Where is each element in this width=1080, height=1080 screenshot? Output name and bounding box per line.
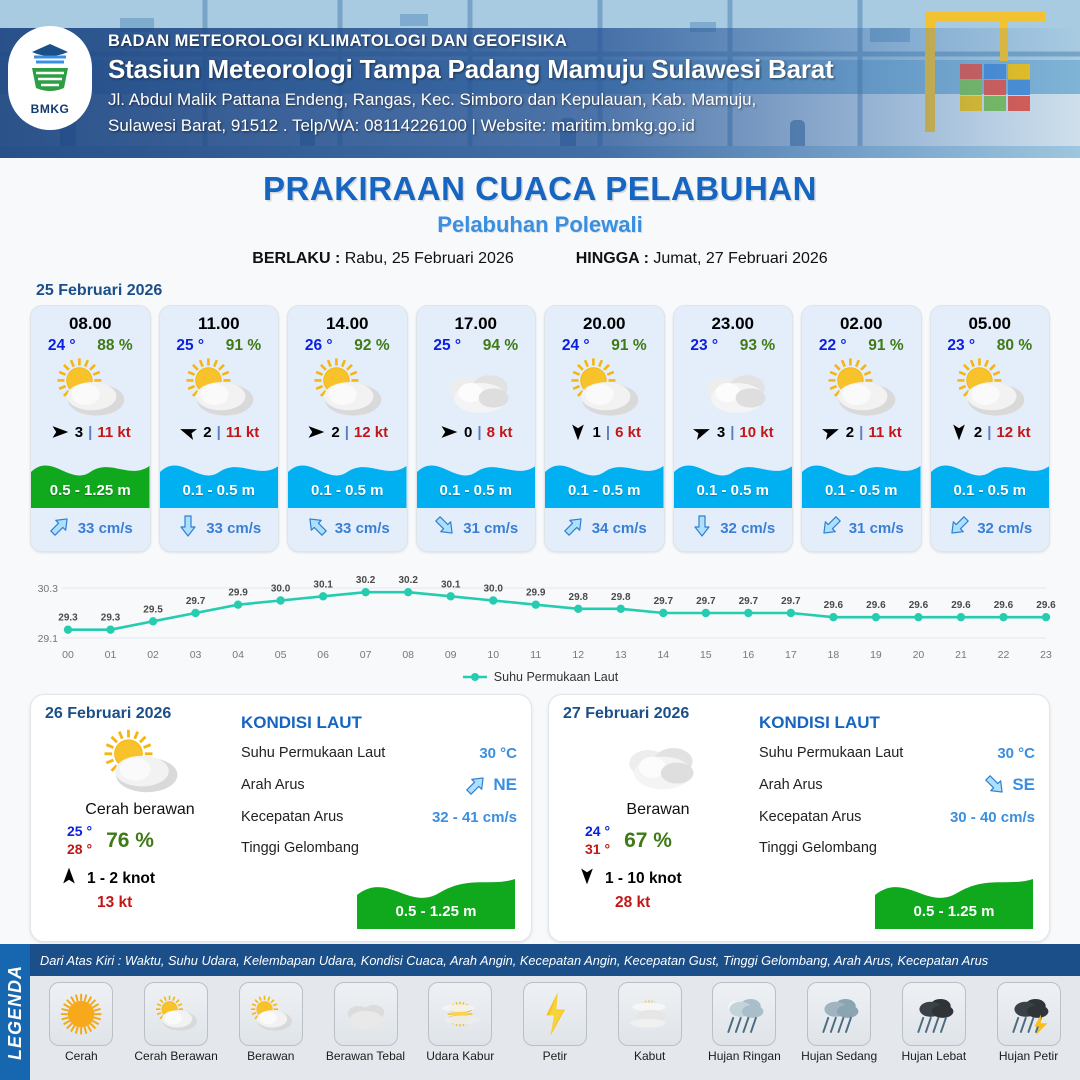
hourly-card: 20.00 24 ° 91 % 1 | 6 kt 0.1 - 0.5 m 3 [544, 305, 665, 552]
divider: | [859, 424, 863, 441]
row-label: Kecepatan Arus [759, 809, 861, 825]
partly-cloudy-icon [160, 357, 279, 419]
daily-wind-arrow-icon [577, 866, 597, 891]
thunderstorm-icon [997, 982, 1061, 1046]
cloud-sun-small-icon [239, 982, 303, 1046]
daily-wave-value: 0.5 - 1.25 m [357, 903, 515, 920]
wind-direction-arrow-icon [821, 422, 841, 442]
legend-item: Udara Kabur [414, 982, 506, 1063]
svg-text:29.6: 29.6 [994, 600, 1014, 611]
card-humidity: 93 % [740, 337, 775, 355]
card-humidity: 92 % [354, 337, 389, 355]
card-time: 20.00 [545, 306, 664, 336]
hourly-card: 11.00 25 ° 91 % 2 | 11 kt 0.1 - 0.5 m [159, 305, 280, 552]
wind-direction-arrow-icon [568, 422, 588, 442]
sea-row: Kecepatan Arus 30 - 40 cm/s [759, 806, 1035, 828]
svg-text:29.6: 29.6 [866, 600, 886, 611]
daily-wave-value: 0.5 - 1.25 m [875, 903, 1033, 920]
current-direction: SE [983, 773, 1035, 797]
row-label: Arah Arus [241, 777, 305, 793]
header-text-block: BADAN METEOROLOGI KLIMATOLOGI DAN GEOFIS… [108, 32, 834, 137]
svg-text:19: 19 [870, 649, 882, 661]
sea-row: Suhu Permukaan Laut 30 °C [241, 742, 517, 764]
current-direction-arrow-icon [819, 514, 843, 543]
chart-legend: Suhu Permukaan Laut [0, 670, 1080, 684]
daily-date: 27 Februari 2026 [563, 705, 753, 723]
wind-direction-value: 2 [846, 424, 854, 441]
svg-text:29.5: 29.5 [143, 604, 163, 615]
legend-item-label: Cerah Berawan [134, 1049, 217, 1063]
wind-direction-value: 3 [75, 424, 83, 441]
daily-temp-min: 24 ° [585, 823, 610, 841]
sst-chart: 30.329.129.30029.30129.50229.70329.90430… [20, 566, 1060, 666]
fog-icon [618, 982, 682, 1046]
wind-speed: 10 kt [739, 424, 773, 441]
heavy-rain-icon [902, 982, 966, 1046]
wind-speed: 11 kt [226, 424, 259, 441]
daily-temp-min: 25 ° [67, 823, 92, 841]
current-speed: 31 cm/s [849, 520, 904, 537]
sun-icon [49, 982, 113, 1046]
daily-gust: 13 kt [45, 894, 235, 912]
wave-height-value: 0.1 - 0.5 m [288, 482, 407, 499]
cloudy-icon [563, 725, 753, 799]
agency-name: BADAN METEOROLOGI KLIMATOLOGI DAN GEOFIS… [108, 32, 834, 51]
wind-speed: 12 kt [354, 424, 388, 441]
current-direction-arrow-icon [690, 514, 714, 543]
wave-height-band: 0.1 - 0.5 m [674, 446, 793, 508]
svg-text:15: 15 [700, 649, 712, 661]
chart-legend-label: Suhu Permukaan Laut [494, 670, 618, 684]
wind-direction-arrow-icon [178, 422, 198, 442]
legend-item-label: Hujan Lebat [901, 1049, 966, 1063]
wave-height-band: 0.1 - 0.5 m [417, 446, 536, 508]
legend-items: Cerah Cerah Berawan Berawan Berawan Teba… [30, 976, 1080, 1080]
wind-speed: 8 kt [487, 424, 513, 441]
wave-height-band: 0.1 - 0.5 m [802, 446, 921, 508]
card-humidity: 91 % [868, 337, 903, 355]
title-section: PRAKIRAAN CUACA PELABUHAN Pelabuhan Pole… [0, 158, 1080, 268]
legend-item-label: Hujan Petir [999, 1049, 1058, 1063]
svg-text:17: 17 [785, 649, 797, 661]
row-value: 30 °C [997, 745, 1035, 762]
divider: | [606, 424, 610, 441]
svg-text:30.1: 30.1 [313, 579, 333, 590]
daily-humidity: 76 % [106, 829, 154, 853]
svg-text:30.2: 30.2 [398, 575, 418, 586]
row-value: 30 - 40 cm/s [950, 809, 1035, 826]
row-label: Suhu Permukaan Laut [759, 745, 903, 761]
legend-item: Berawan Tebal [320, 982, 412, 1063]
current-speed: 32 cm/s [720, 520, 775, 537]
svg-text:30.2: 30.2 [356, 575, 376, 586]
sea-row: Arah Arus SE [759, 773, 1035, 797]
wind-direction-arrow-icon [306, 422, 326, 442]
wave-height-value: 0.1 - 0.5 m [931, 482, 1050, 499]
partly-cloudy-icon [31, 357, 150, 419]
daily-temp-max: 31 ° [585, 841, 610, 859]
svg-text:14: 14 [657, 649, 669, 661]
svg-text:04: 04 [232, 649, 244, 661]
valid-from: BERLAKU : Rabu, 25 Februari 2026 [252, 250, 513, 268]
card-time: 23.00 [674, 306, 793, 336]
svg-text:29.6: 29.6 [951, 600, 971, 611]
card-temperature: 25 ° [176, 337, 204, 355]
haze-icon [428, 982, 492, 1046]
moderate-rain-icon [807, 982, 871, 1046]
svg-text:29.9: 29.9 [228, 588, 248, 599]
card-time: 08.00 [31, 306, 150, 336]
partly-cloudy-icon [288, 357, 407, 419]
current-speed: 33 cm/s [206, 520, 261, 537]
svg-text:29.3: 29.3 [101, 613, 121, 624]
current-speed: 33 cm/s [335, 520, 390, 537]
wind-direction-value: 2 [203, 424, 211, 441]
svg-text:05: 05 [275, 649, 287, 661]
legend-sidebar: LEGENDA [0, 944, 30, 1080]
wave-height-value: 0.1 - 0.5 m [674, 482, 793, 499]
svg-text:29.7: 29.7 [781, 596, 801, 607]
wind-direction-value: 1 [593, 424, 601, 441]
bmkg-logo: BMKG [8, 26, 92, 130]
wave-height-band: 0.5 - 1.25 m [31, 446, 150, 508]
card-humidity: 88 % [97, 337, 132, 355]
legend-item: Kabut [604, 982, 696, 1063]
wave-height-band: 0.1 - 0.5 m [288, 446, 407, 508]
hourly-forecast-row: 08.00 24 ° 88 % 3 | 11 kt 0.5 - 1.25 m [0, 305, 1080, 552]
wave-height-band: 0.1 - 0.5 m [931, 446, 1050, 508]
current-direction-arrow-icon [562, 514, 586, 543]
daily-humidity: 67 % [624, 829, 672, 853]
wind-direction-arrow-icon [692, 422, 712, 442]
daily-temp-max: 28 ° [67, 841, 92, 859]
daily-forecast-card: 26 Februari 2026 Cerah berawan 25 ° 28 °… [30, 694, 532, 942]
svg-text:10: 10 [487, 649, 499, 661]
valid-from-label: BERLAKU : [252, 250, 340, 267]
card-temperature: 23 ° [690, 337, 718, 355]
card-humidity: 80 % [997, 337, 1032, 355]
svg-text:29.7: 29.7 [739, 596, 759, 607]
svg-text:01: 01 [105, 649, 117, 661]
sea-row: Suhu Permukaan Laut 30 °C [759, 742, 1035, 764]
svg-text:21: 21 [955, 649, 967, 661]
svg-text:29.6: 29.6 [824, 600, 844, 611]
current-direction-arrow-icon [433, 514, 457, 543]
divider: | [345, 424, 349, 441]
validity-row: BERLAKU : Rabu, 25 Februari 2026 HINGGA … [0, 250, 1080, 268]
svg-text:23: 23 [1040, 649, 1052, 661]
daily-date: 26 Februari 2026 [45, 705, 235, 723]
page-title: PRAKIRAAN CUACA PELABUHAN [0, 170, 1080, 208]
wave-height-value: 0.1 - 0.5 m [545, 482, 664, 499]
sst-chart-svg: 30.329.129.30029.30129.50229.70329.90430… [20, 566, 1060, 666]
current-direction-value: SE [1012, 775, 1035, 795]
card-time: 05.00 [931, 306, 1050, 336]
legend-item: Berawan [225, 982, 317, 1063]
svg-text:29.7: 29.7 [186, 596, 206, 607]
address-line-1: Jl. Abdul Malik Pattana Endeng, Rangas, … [108, 89, 834, 111]
legend-item-label: Kabut [634, 1049, 665, 1063]
current-direction-arrow-icon [305, 514, 329, 543]
legend-item: Cerah [35, 982, 127, 1063]
svg-text:07: 07 [360, 649, 372, 661]
daily-wind-range: 1 - 10 knot [605, 870, 682, 888]
legend-item-label: Berawan [247, 1049, 294, 1063]
legend-note: Dari Atas Kiri : Waktu, Suhu Udara, Kele… [40, 953, 988, 968]
legend-item-label: Hujan Ringan [708, 1049, 781, 1063]
divider: | [217, 424, 221, 441]
svg-text:29.6: 29.6 [909, 600, 929, 611]
card-time: 14.00 [288, 306, 407, 336]
wave-height-band: 0.1 - 0.5 m [545, 446, 664, 508]
card-humidity: 91 % [611, 337, 646, 355]
daily-gust: 28 kt [563, 894, 753, 912]
clouds-icon [334, 982, 398, 1046]
svg-text:02: 02 [147, 649, 159, 661]
hourly-card: 02.00 22 ° 91 % 2 | 11 kt 0.1 - 0.5 m [801, 305, 922, 552]
page-header: BMKG BADAN METEOROLOGI KLIMATOLOGI DAN G… [0, 0, 1080, 158]
svg-text:29.1: 29.1 [38, 633, 59, 645]
svg-text:29.6: 29.6 [1036, 600, 1056, 611]
valid-to: HINGGA : Jumat, 27 Februari 2026 [576, 250, 828, 268]
svg-text:08: 08 [402, 649, 414, 661]
current-direction: NE [464, 773, 517, 797]
svg-text:11: 11 [530, 649, 541, 661]
wind-direction-arrow-icon [50, 422, 70, 442]
legend-item-label: Cerah [65, 1049, 98, 1063]
card-temperature: 23 ° [947, 337, 975, 355]
wind-direction-arrow-icon [439, 422, 459, 442]
current-speed: 32 cm/s [977, 520, 1032, 537]
daily-forecast-row: 26 Februari 2026 Cerah berawan 25 ° 28 °… [0, 684, 1080, 942]
bmkg-emblem-icon [24, 40, 76, 100]
current-direction-arrow-icon [48, 514, 72, 543]
svg-text:30.0: 30.0 [271, 584, 291, 595]
daily-wind-arrow-icon [59, 866, 79, 891]
port-name: Pelabuhan Polewali [0, 212, 1080, 238]
cloudy-icon [417, 357, 536, 419]
card-humidity: 91 % [226, 337, 261, 355]
svg-text:00: 00 [62, 649, 74, 661]
divider: | [477, 424, 481, 441]
svg-text:29.7: 29.7 [696, 596, 716, 607]
row-value: 30 °C [479, 745, 517, 762]
valid-to-value: Jumat, 27 Februari 2026 [653, 250, 827, 267]
cloudy-icon [674, 357, 793, 419]
card-temperature: 24 ° [48, 337, 76, 355]
partly-cloudy-icon [802, 357, 921, 419]
card-temperature: 22 ° [819, 337, 847, 355]
row-label: Tinggi Gelombang [241, 840, 359, 856]
legend-item-label: Berawan Tebal [326, 1049, 405, 1063]
current-speed: 33 cm/s [78, 520, 133, 537]
wind-speed: 11 kt [97, 424, 130, 441]
svg-text:06: 06 [317, 649, 329, 661]
sea-row: Kecepatan Arus 32 - 41 cm/s [241, 806, 517, 828]
partly-cloudy-icon [931, 357, 1050, 419]
wave-height-value: 0.5 - 1.25 m [31, 482, 150, 499]
legend-item: Hujan Petir [983, 982, 1075, 1063]
sea-row: Arah Arus NE [241, 773, 517, 797]
wind-direction-value: 3 [717, 424, 725, 441]
card-time: 11.00 [160, 306, 279, 336]
svg-text:29.8: 29.8 [611, 592, 631, 603]
card-time: 02.00 [802, 306, 921, 336]
current-direction-arrow-icon [176, 514, 200, 543]
row-label: Kecepatan Arus [241, 809, 343, 825]
current-direction-arrow-icon [947, 514, 971, 543]
card-temperature: 25 ° [433, 337, 461, 355]
legend-item-label: Udara Kabur [426, 1049, 494, 1063]
wind-direction-value: 2 [331, 424, 339, 441]
daily-forecast-card: 27 Februari 2026 Berawan 24 ° 31 ° 67 % … [548, 694, 1050, 942]
hourly-card: 14.00 26 ° 92 % 2 | 12 kt 0.1 - 0.5 m [287, 305, 408, 552]
svg-text:20: 20 [913, 649, 925, 661]
wave-height-value: 0.1 - 0.5 m [417, 482, 536, 499]
hourly-card: 17.00 25 ° 94 % 0 | 8 kt 0.1 - 0.5 m 31 … [416, 305, 537, 552]
current-speed: 31 cm/s [463, 520, 518, 537]
wave-height-band: 0.1 - 0.5 m [160, 446, 279, 508]
legend-item-label: Petir [543, 1049, 568, 1063]
svg-text:30.1: 30.1 [441, 579, 461, 590]
current-direction-value: NE [493, 775, 517, 795]
row-value: 32 - 41 cm/s [432, 809, 517, 826]
daily-condition: Cerah berawan [45, 801, 235, 819]
legend-item: Hujan Sedang [793, 982, 885, 1063]
hourly-card: 08.00 24 ° 88 % 3 | 11 kt 0.5 - 1.25 m [30, 305, 151, 552]
partly-cloudy-icon [45, 725, 235, 799]
svg-text:16: 16 [743, 649, 755, 661]
bmkg-logo-text: BMKG [31, 102, 70, 116]
sea-condition-title: KONDISI LAUT [759, 713, 1035, 733]
divider: | [987, 424, 991, 441]
card-humidity: 94 % [483, 337, 518, 355]
sea-condition-title: KONDISI LAUT [241, 713, 517, 733]
valid-to-label: HINGGA : [576, 250, 649, 267]
divider: | [730, 424, 734, 441]
legend-item-label: Hujan Sedang [801, 1049, 877, 1063]
legend-item: Hujan Ringan [698, 982, 790, 1063]
chart-legend-marker-icon [462, 672, 488, 682]
current-speed: 34 cm/s [592, 520, 647, 537]
divider: | [88, 424, 92, 441]
svg-text:13: 13 [615, 649, 627, 661]
daily-wind-range: 1 - 2 knot [87, 870, 155, 888]
svg-text:29.3: 29.3 [58, 613, 78, 624]
wind-speed: 6 kt [615, 424, 641, 441]
wind-direction-value: 2 [974, 424, 982, 441]
wind-speed: 12 kt [996, 424, 1030, 441]
svg-text:09: 09 [445, 649, 457, 661]
card-temperature: 24 ° [562, 337, 590, 355]
hourly-card: 23.00 23 ° 93 % 3 | 10 kt 0.1 - 0.5 m 32… [673, 305, 794, 552]
legend-section: LEGENDA Dari Atas Kiri : Waktu, Suhu Uda… [0, 944, 1080, 1080]
wind-speed: 11 kt [868, 424, 901, 441]
row-label: Suhu Permukaan Laut [241, 745, 385, 761]
hourly-date-label: 25 Februari 2026 [36, 282, 1080, 300]
svg-text:30.0: 30.0 [483, 584, 503, 595]
sea-row: Tinggi Gelombang [759, 837, 1035, 859]
valid-from-value: Rabu, 25 Februari 2026 [345, 250, 514, 267]
wave-height-value: 0.1 - 0.5 m [802, 482, 921, 499]
sea-row: Tinggi Gelombang [241, 837, 517, 859]
legend-sidebar-label: LEGENDA [5, 964, 26, 1059]
svg-text:22: 22 [998, 649, 1010, 661]
card-time: 17.00 [417, 306, 536, 336]
address-line-2: Sulawesi Barat, 91512 . Telp/WA: 0811422… [108, 115, 834, 137]
row-label: Tinggi Gelombang [759, 840, 877, 856]
legend-item: Petir [509, 982, 601, 1063]
svg-text:12: 12 [572, 649, 584, 661]
svg-text:18: 18 [828, 649, 840, 661]
svg-text:03: 03 [190, 649, 202, 661]
row-label: Arah Arus [759, 777, 823, 793]
partly-cloudy-icon [545, 357, 664, 419]
legend-item: Cerah Berawan [130, 982, 222, 1063]
daily-wave-chip: 0.5 - 1.25 m [357, 867, 515, 929]
svg-text:29.8: 29.8 [569, 592, 589, 603]
svg-text:29.7: 29.7 [654, 596, 674, 607]
legend-item: Hujan Lebat [888, 982, 980, 1063]
sun-cloud-icon [144, 982, 208, 1046]
wind-direction-value: 0 [464, 424, 472, 441]
light-rain-icon [712, 982, 776, 1046]
wind-direction-arrow-icon [949, 422, 969, 442]
hourly-card: 05.00 23 ° 80 % 2 | 12 kt 0.1 - 0.5 m [930, 305, 1051, 552]
card-temperature: 26 ° [305, 337, 333, 355]
daily-condition: Berawan [563, 801, 753, 819]
svg-text:30.3: 30.3 [38, 583, 59, 595]
wave-height-value: 0.1 - 0.5 m [160, 482, 279, 499]
station-name: Stasiun Meteorologi Tampa Padang Mamuju … [108, 54, 834, 85]
svg-text:29.9: 29.9 [526, 588, 546, 599]
lightning-icon [523, 982, 587, 1046]
daily-wave-chip: 0.5 - 1.25 m [875, 867, 1033, 929]
